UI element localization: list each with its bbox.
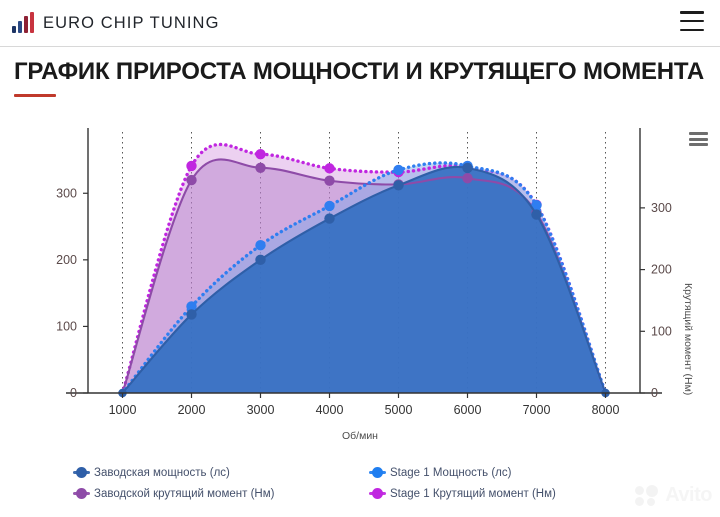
data-point (393, 165, 403, 175)
site-header: EURO CHIP TUNING (0, 0, 720, 47)
dyno-chart: 0100200300010020030010002000300040005000… (0, 118, 720, 458)
axis-tick-label: 7000 (523, 403, 551, 417)
axis-tick-label: 100 (56, 319, 77, 333)
data-point (186, 175, 196, 185)
chart-legend: Заводская мощность (лс) Заводской крутящ… (0, 458, 720, 517)
data-point (255, 255, 265, 265)
legend-label: Stage 1 Мощность (лс) (390, 467, 511, 479)
axis-tick-label: 8000 (592, 403, 620, 417)
legend-item-stage1-torque[interactable]: Stage 1 Крутящий момент (Нм) (372, 483, 556, 504)
axis-tick-label: 2000 (178, 403, 206, 417)
axis-tick-label: 1000 (109, 403, 137, 417)
data-point (255, 240, 265, 250)
bar-chart-logo-icon (12, 13, 34, 33)
axis-tick-label: 3000 (247, 403, 275, 417)
x-axis-title: Об/мин (0, 430, 720, 442)
data-point (324, 213, 334, 223)
legend-item-stock-torque[interactable]: Заводской крутящий момент (Нм) (76, 483, 274, 504)
page-root: EURO CHIP TUNING ГРАФИК ПРИРОСТА МОЩНОСТ… (0, 0, 720, 517)
chart-plot-area: 0100200300010020030010002000300040005000… (0, 118, 720, 458)
legend-marker-icon (372, 488, 383, 499)
legend-item-stock-power[interactable]: Заводская мощность (лс) (76, 462, 274, 483)
data-point (462, 163, 472, 173)
data-point (393, 180, 403, 190)
axis-tick-label: 0 (70, 386, 77, 400)
title-block: ГРАФИК ПРИРОСТА МОЩНОСТИ И КРУТЯЩЕГО МОМ… (0, 46, 720, 97)
data-point (324, 176, 334, 186)
legend-column-right: Stage 1 Мощность (лс) Stage 1 Крутящий м… (372, 462, 556, 504)
data-point (255, 149, 265, 159)
y-axis-right-title: Крутящий момент (Нм) (682, 283, 694, 395)
title-underline-rule (14, 94, 56, 97)
axis-tick-label: 5000 (385, 403, 413, 417)
legend-item-stage1-power[interactable]: Stage 1 Мощность (лс) (372, 462, 556, 483)
hamburger-menu-icon[interactable] (680, 11, 704, 31)
page-title: ГРАФИК ПРИРОСТА МОЩНОСТИ И КРУТЯЩЕГО МОМ… (0, 46, 720, 84)
axis-tick-label: 6000 (454, 403, 482, 417)
data-point (186, 161, 196, 171)
legend-label: Заводской крутящий момент (Нм) (94, 488, 274, 500)
axis-tick-label: 200 (56, 253, 77, 267)
brand-logo[interactable]: EURO CHIP TUNING (0, 13, 220, 33)
data-point (324, 201, 334, 211)
axis-tick-label: 200 (651, 263, 672, 277)
data-point (255, 163, 265, 173)
axis-tick-label: 300 (56, 186, 77, 200)
axis-tick-label: 0 (651, 386, 658, 400)
data-point (531, 209, 541, 219)
legend-marker-icon (76, 488, 87, 499)
data-point (186, 309, 196, 319)
legend-label: Stage 1 Крутящий момент (Нм) (390, 488, 556, 500)
legend-label: Заводская мощность (лс) (94, 467, 230, 479)
legend-column-left: Заводская мощность (лс) Заводской крутящ… (76, 462, 274, 504)
axis-tick-label: 4000 (316, 403, 344, 417)
axis-tick-label: 300 (651, 201, 672, 215)
legend-marker-icon (372, 467, 383, 478)
brand-name: EURO CHIP TUNING (43, 14, 220, 33)
legend-marker-icon (76, 467, 87, 478)
data-point (324, 163, 334, 173)
data-point (462, 173, 472, 183)
axis-tick-label: 100 (651, 324, 672, 338)
